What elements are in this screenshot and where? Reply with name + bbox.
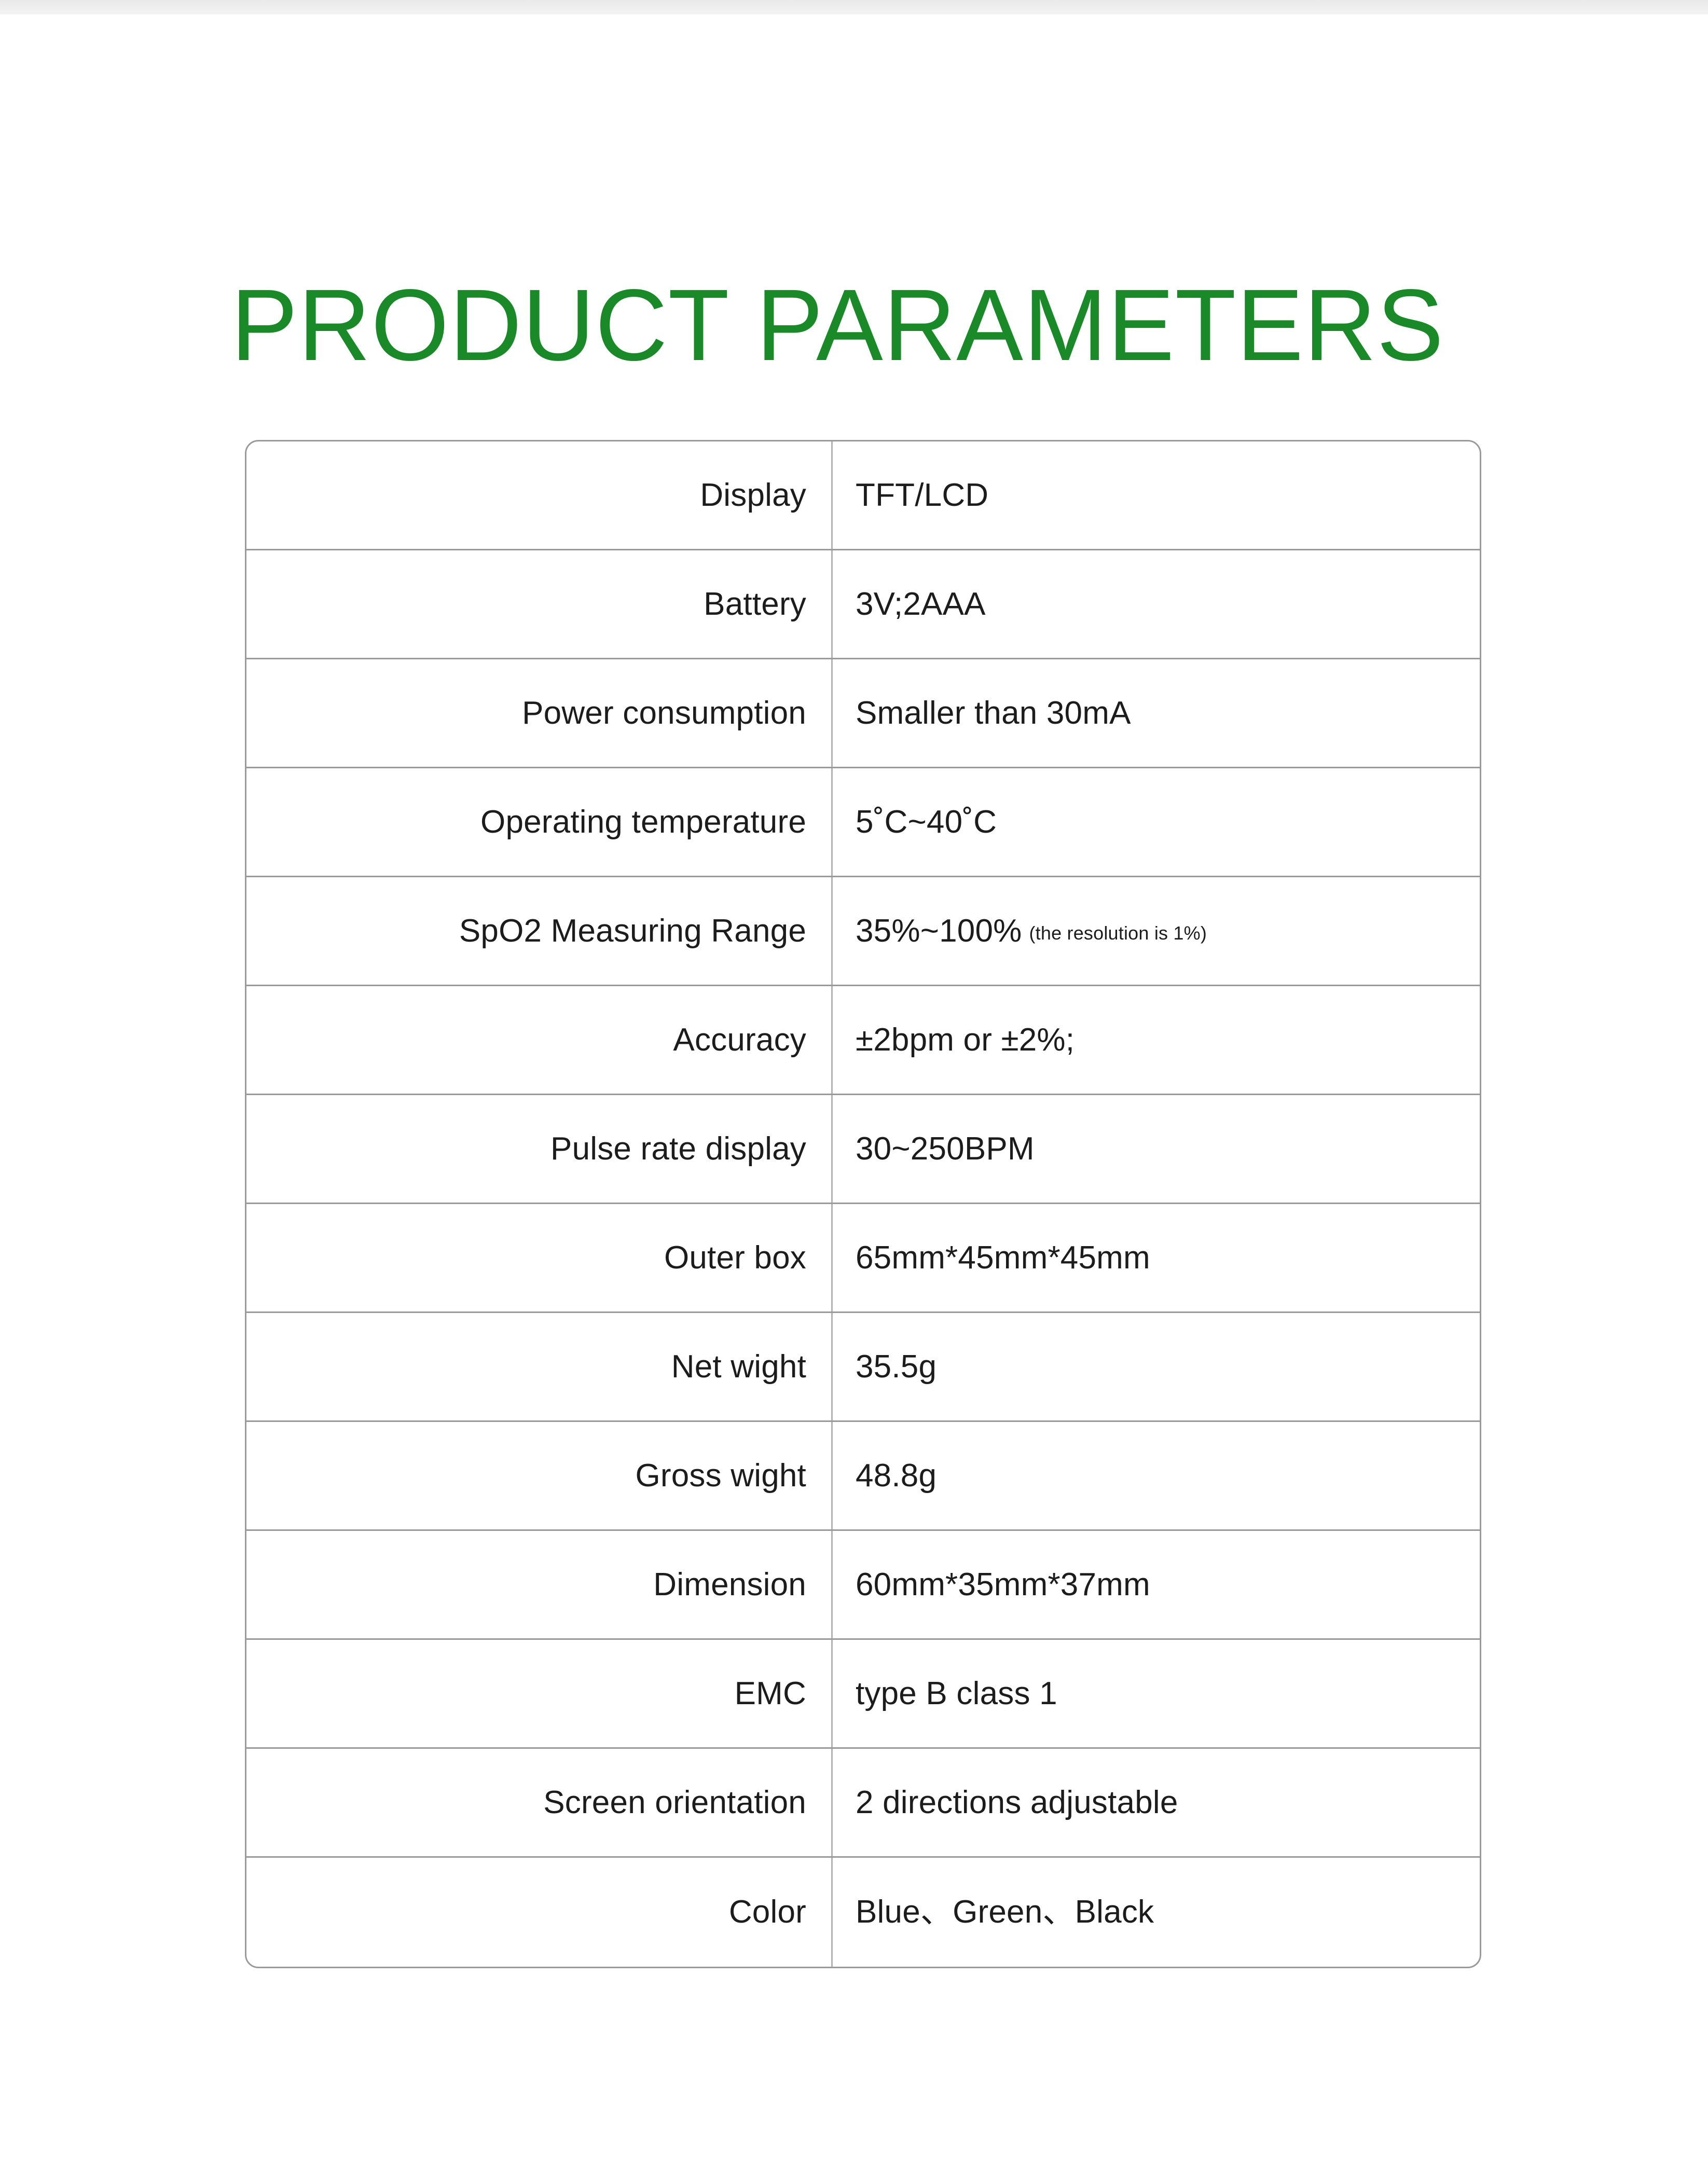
- table-row: Dimension60mm*35mm*37mm: [246, 1531, 1480, 1640]
- spec-value-text: type B class 1: [856, 1675, 1057, 1712]
- spec-label: Accuracy: [246, 986, 833, 1094]
- table-row: EMCtype B class 1: [246, 1640, 1480, 1749]
- spec-value-text: TFT/LCD: [856, 477, 988, 514]
- spec-value: 48.8g: [833, 1422, 1480, 1529]
- spec-value: 5˚C~40˚C: [833, 768, 1480, 876]
- spec-label: Operating temperature: [246, 768, 833, 876]
- spec-label: SpO2 Measuring Range: [246, 877, 833, 985]
- spec-value-text: 35.5g: [856, 1348, 936, 1385]
- table-row: SpO2 Measuring Range35%~100%(the resolut…: [246, 877, 1480, 986]
- spec-value-text: 60mm*35mm*37mm: [856, 1566, 1150, 1603]
- table-row: Battery3V;2AAA: [246, 550, 1480, 659]
- spec-label: Power consumption: [246, 659, 833, 767]
- table-row: DisplayTFT/LCD: [246, 441, 1480, 550]
- spec-label: Color: [246, 1858, 833, 1967]
- spec-value-text: 3V;2AAA: [856, 586, 986, 623]
- spec-value: ±2bpm or ±2%;: [833, 986, 1480, 1094]
- spec-value: Blue、Green、Black: [833, 1858, 1480, 1967]
- spec-value: TFT/LCD: [833, 441, 1480, 549]
- spec-label: Battery: [246, 550, 833, 658]
- table-row: Net wight35.5g: [246, 1313, 1480, 1422]
- spec-label: Dimension: [246, 1531, 833, 1638]
- spec-value-text: 30~250BPM: [856, 1130, 1035, 1167]
- spec-value-text: Blue、Green、Black: [856, 1894, 1154, 1930]
- spec-label: Display: [246, 441, 833, 549]
- spec-label: Pulse rate display: [246, 1095, 833, 1203]
- product-parameters-page: PRODUCT PARAMETERS DisplayTFT/LCDBattery…: [0, 0, 1708, 2169]
- table-row: Gross wight48.8g: [246, 1422, 1480, 1531]
- spec-value: 35.5g: [833, 1313, 1480, 1420]
- spec-value: 65mm*45mm*45mm: [833, 1204, 1480, 1311]
- spec-value: Smaller than 30mA: [833, 659, 1480, 767]
- spec-value-text: 2 directions adjustable: [856, 1784, 1178, 1821]
- spec-label: Net wight: [246, 1313, 833, 1420]
- spec-value-text: 65mm*45mm*45mm: [856, 1239, 1150, 1276]
- spec-label: Gross wight: [246, 1422, 833, 1529]
- spec-value-note: (the resolution is 1%): [1029, 922, 1207, 944]
- table-row: Outer box65mm*45mm*45mm: [246, 1204, 1480, 1313]
- spec-label: EMC: [246, 1640, 833, 1747]
- spec-value-text: 35%~100%: [856, 913, 1022, 949]
- spec-value: 35%~100%(the resolution is 1%): [833, 877, 1480, 985]
- spec-label: Outer box: [246, 1204, 833, 1311]
- spec-label: Screen orientation: [246, 1749, 833, 1856]
- spec-value: 3V;2AAA: [833, 550, 1480, 658]
- table-row: Operating temperature5˚C~40˚C: [246, 768, 1480, 877]
- page-title: PRODUCT PARAMETERS: [231, 274, 1468, 376]
- table-row: Power consumptionSmaller than 30mA: [246, 659, 1480, 768]
- product-parameters-table: DisplayTFT/LCDBattery3V;2AAAPower consum…: [245, 440, 1481, 1968]
- spec-value: 60mm*35mm*37mm: [833, 1531, 1480, 1638]
- table-row: Accuracy±2bpm or ±2%;: [246, 986, 1480, 1095]
- table-row: Pulse rate display30~250BPM: [246, 1095, 1480, 1204]
- spec-value-text: 48.8g: [856, 1457, 936, 1494]
- table-row: Screen orientation2 directions adjustabl…: [246, 1749, 1480, 1858]
- spec-value: type B class 1: [833, 1640, 1480, 1747]
- table-row: ColorBlue、Green、Black: [246, 1858, 1480, 1967]
- spec-value: 2 directions adjustable: [833, 1749, 1480, 1856]
- spec-value: 30~250BPM: [833, 1095, 1480, 1203]
- spec-value-text: ±2bpm or ±2%;: [856, 1021, 1075, 1058]
- spec-value-text: Smaller than 30mA: [856, 695, 1131, 731]
- spec-value-text: 5˚C~40˚C: [856, 804, 997, 840]
